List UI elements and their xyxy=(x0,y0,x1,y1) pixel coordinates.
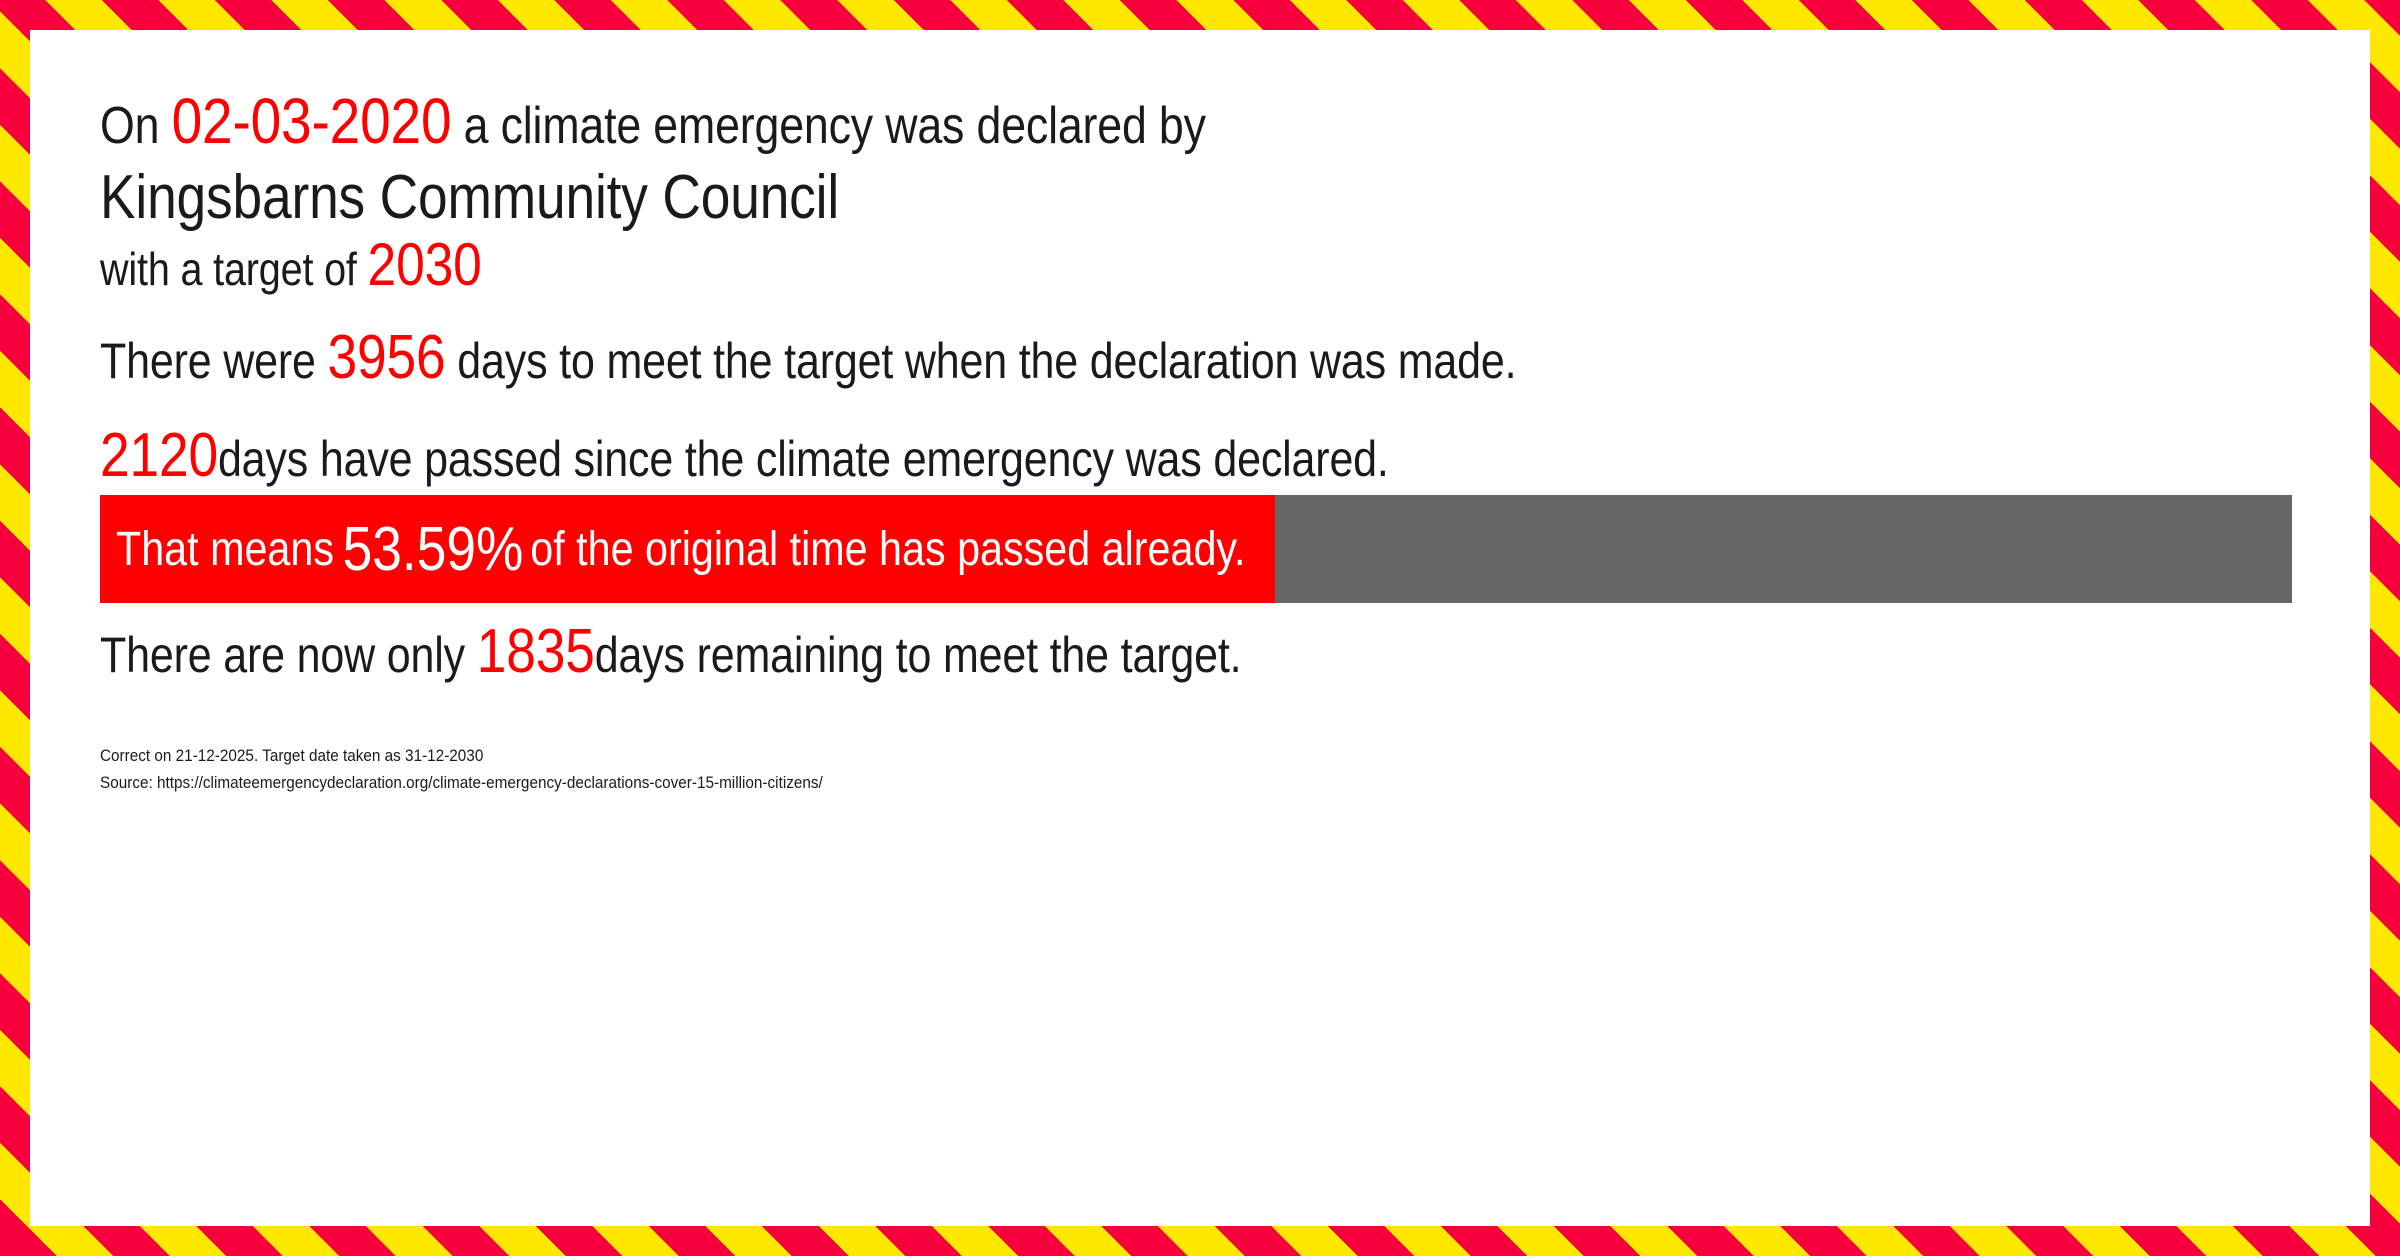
progress-bar-label: That means 53.59%of the original time ha… xyxy=(116,495,1245,603)
remaining-days-line: There are now only 1835days remaining to… xyxy=(100,621,1241,686)
remaining-suffix: days remaining to meet the target. xyxy=(595,627,1242,683)
progress-percent-value: 53.59% xyxy=(334,514,530,585)
original-days-value: 3956 xyxy=(328,323,446,392)
original-days-prefix: There were xyxy=(100,333,328,389)
footnote-correct-on: Correct on 21-12-2025. Target date taken… xyxy=(100,742,823,769)
declaration-suffix: a climate emergency was declared by xyxy=(451,97,1205,155)
hazard-border-poster: On 02-03-2020 a climate emergency was de… xyxy=(0,0,2400,1256)
elapsed-days-line: 2120days have passed since the climate e… xyxy=(100,425,1389,490)
elapsed-days-value: 2120 xyxy=(100,421,218,490)
progress-bar-track: That means 53.59%of the original time ha… xyxy=(100,495,2292,603)
elapsed-days-suffix: days have passed since the climate emerg… xyxy=(218,431,1389,487)
remaining-days-value: 1835 xyxy=(477,617,595,686)
declaring-authority: Kingsbarns Community Council xyxy=(100,162,839,234)
original-days-line: There were 3956 days to meet the target … xyxy=(100,327,1516,392)
footnotes: Correct on 21-12-2025. Target date taken… xyxy=(100,742,823,796)
declaration-date: 02-03-2020 xyxy=(172,85,452,157)
footnote-source: Source: https://climateemergencydeclarat… xyxy=(100,769,823,796)
content-area: On 02-03-2020 a climate emergency was de… xyxy=(100,30,2330,1226)
progress-label-suffix: of the original time has passed already. xyxy=(530,522,1245,577)
progress-label-prefix: That means xyxy=(116,522,334,577)
target-prefix: with a target of xyxy=(100,243,368,295)
target-year: 2030 xyxy=(368,231,482,298)
target-line: with a target of 2030 xyxy=(100,234,482,300)
declaration-line: On 02-03-2020 a climate emergency was de… xyxy=(100,90,1206,157)
declaration-prefix: On xyxy=(100,97,172,155)
original-days-suffix: days to meet the target when the declara… xyxy=(445,333,1516,389)
remaining-prefix: There are now only xyxy=(100,627,477,683)
white-panel: On 02-03-2020 a climate emergency was de… xyxy=(30,30,2370,1226)
